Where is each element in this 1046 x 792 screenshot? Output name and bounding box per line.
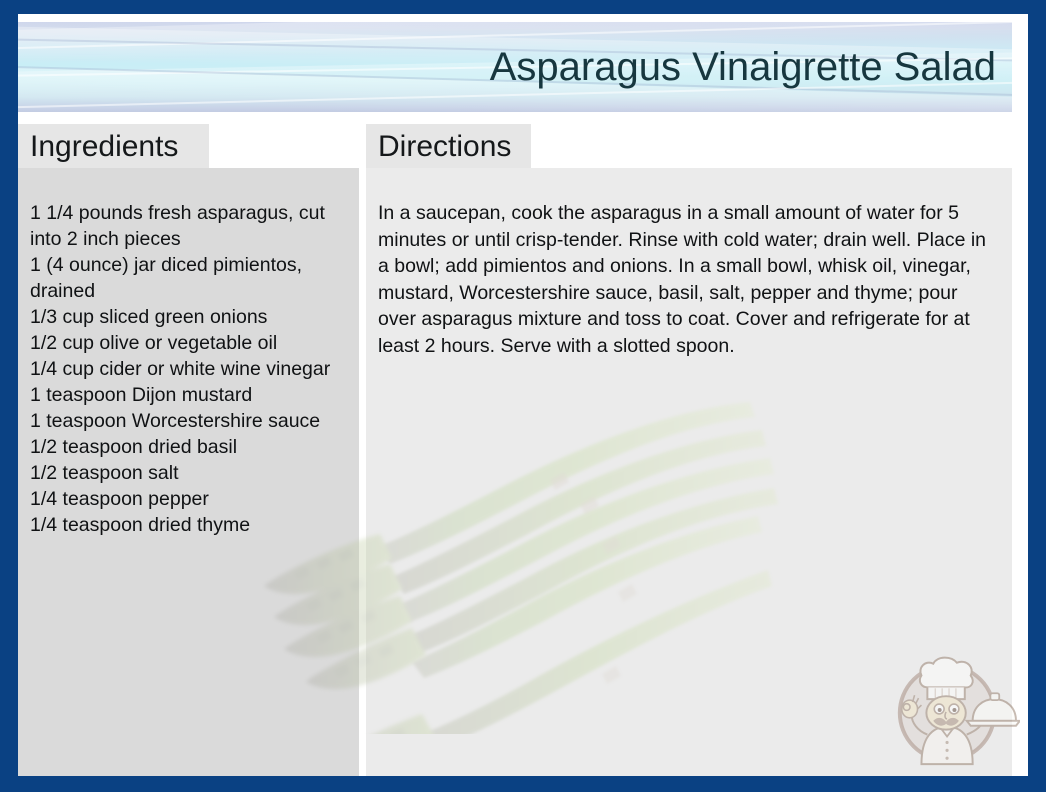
title-banner: Asparagus Vinaigrette Salad xyxy=(18,22,1012,112)
list-item: 1/4 teaspoon dried thyme xyxy=(30,512,345,538)
list-item: 1 (4 ounce) jar diced pimientos, drained xyxy=(30,252,345,304)
directions-heading-tab: Directions xyxy=(366,124,531,170)
ingredients-panel: 1 1/4 pounds fresh asparagus, cut into 2… xyxy=(18,168,359,776)
list-item: 1/2 teaspoon salt xyxy=(30,460,345,486)
list-item: 1/4 cup cider or white wine vinegar xyxy=(30,356,345,382)
ingredients-list: 1 1/4 pounds fresh asparagus, cut into 2… xyxy=(18,168,359,538)
list-item: 1/2 cup olive or vegetable oil xyxy=(30,330,345,356)
list-item: 1/2 teaspoon dried basil xyxy=(30,434,345,460)
recipe-card: Asparagus Vinaigrette Salad Ingredients … xyxy=(18,14,1028,776)
list-item: 1 1/4 pounds fresh asparagus, cut into 2… xyxy=(30,200,345,252)
list-item: 1/3 cup sliced green onions xyxy=(30,304,345,330)
list-item: 1 teaspoon Worcestershire sauce xyxy=(30,408,345,434)
ingredients-heading: Ingredients xyxy=(30,132,178,162)
list-item: 1/4 teaspoon pepper xyxy=(30,486,345,512)
ingredients-heading-tab: Ingredients xyxy=(18,124,209,170)
list-item: 1 teaspoon Dijon mustard xyxy=(30,382,345,408)
directions-text: In a saucepan, cook the asparagus in a s… xyxy=(366,168,1012,359)
directions-panel: In a saucepan, cook the asparagus in a s… xyxy=(366,168,1012,776)
page-title: Asparagus Vinaigrette Salad xyxy=(490,47,996,87)
directions-heading: Directions xyxy=(378,132,511,162)
